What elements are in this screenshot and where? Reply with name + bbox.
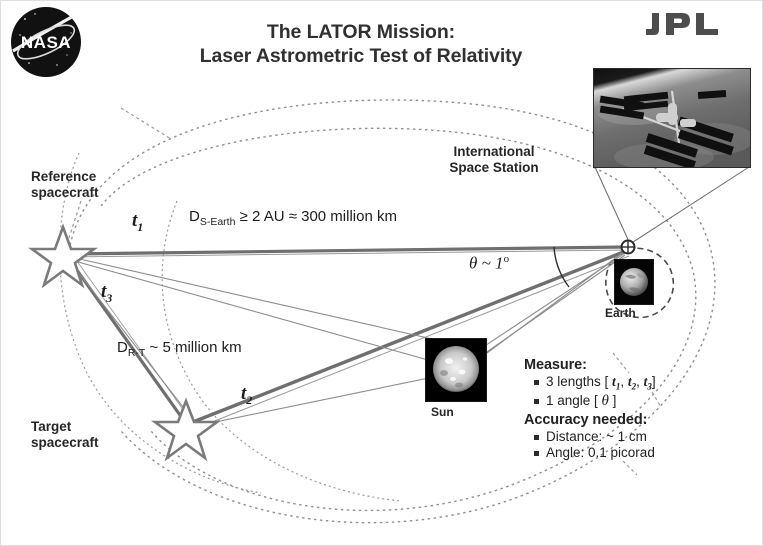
reference-label-leader [67,201,81,244]
laser-path-t1 [69,247,627,259]
t2-label: t2 [241,383,252,408]
d-rt-subscript: R-T [128,347,146,359]
d-searth-subscript: S-Earth [200,216,236,228]
reference-spacecraft-label-line2: spacecraft [31,185,99,200]
target-spacecraft-label-line2: spacecraft [31,435,99,450]
distance-sun-earth-annotation: DS-Earth ≥ 2 AU ≈ 300 million km [189,208,397,228]
accuracy-heading: Accuracy needed: [524,412,754,428]
theta-angle-label: θ ~ 1o [469,253,509,274]
iss-label: International Space Station [419,144,569,176]
t3-subscript: 3 [106,291,112,305]
theta-value: ~ 1 [477,254,503,273]
earth-label: Earth [605,306,636,320]
lator-mission-slide: NASA The LATOR Mission: Laser Astrometri… [0,0,763,546]
d-searth-symbol: D [189,208,200,225]
measure-item-angle: 1 angle [ θ ] [533,393,754,410]
iss-callout-wedge [595,167,749,244]
iss-node-marker [621,240,635,254]
d-rt-value: ~ 5 million km [145,339,241,356]
reference-spacecraft-label: Reference spacecraft [31,169,99,201]
iss-photo [593,68,751,168]
distance-ref-target-annotation: DR-T ~ 5 million km [117,339,242,359]
iss-label-line2: Space Station [449,160,538,175]
theta-degree-symbol: o [504,253,510,265]
iss-label-line1: International [453,144,534,159]
target-spacecraft-star [155,401,217,458]
accuracy-item-distance: Distance: ~ 1 cm [533,429,754,444]
t1-subscript: 1 [137,220,143,234]
accuracy-list: Distance: ~ 1 cm Angle: 0.1 picorad [524,429,754,460]
d-rt-symbol: D [117,339,128,356]
d-searth-value: ≥ 2 AU ≈ 300 million km [235,208,397,225]
earth-photo [614,259,654,305]
reference-spacecraft-star [32,227,94,285]
target-spacecraft-label-line1: Target [31,419,71,434]
upper-left-leader [121,108,171,139]
sun-photo [425,338,487,402]
measurement-requirements-block: Measure: 3 lengths [ t1, t2, t3] 1 angle… [524,357,754,462]
measure-list: 3 lengths [ t1, t2, t3] 1 angle [ θ ] [524,374,754,410]
spacecraft-orbit-arcs [60,153,401,501]
measure-heading: Measure: [524,357,754,373]
accuracy-item-angle: Angle: 0.1 picorad [533,445,754,460]
t1-label: t1 [132,210,143,235]
t2-subscript: 2 [246,393,252,407]
t3-label: t3 [101,281,112,306]
reference-spacecraft-label-line1: Reference [31,169,96,184]
sun-label: Sun [431,405,454,419]
target-spacecraft-label: Target spacecraft [31,419,99,451]
measure-item-lengths: 3 lengths [ t1, t2, t3] [533,374,754,392]
